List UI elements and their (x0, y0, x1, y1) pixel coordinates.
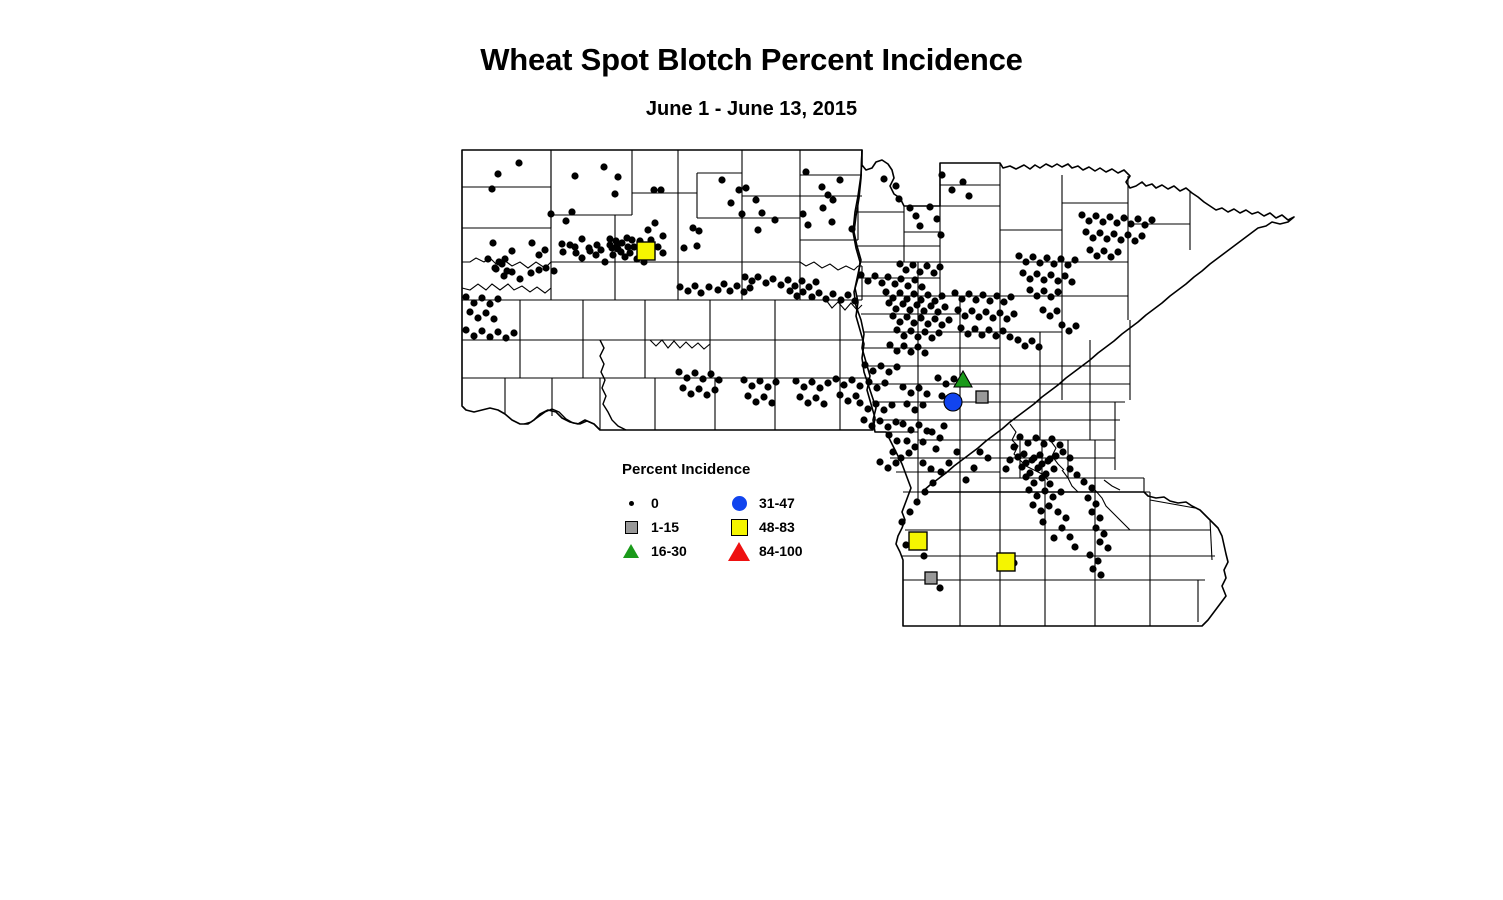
green-triangle-icon (620, 540, 642, 562)
legend-item-1-15: 1-15 (620, 515, 728, 539)
legend-items: 0 31-47 1-15 48-83 (620, 491, 840, 563)
map-page: Wheat Spot Blotch Percent Incidence June… (0, 0, 1503, 900)
legend-title: Percent Incidence (622, 462, 840, 477)
black-dot-icon (620, 492, 642, 514)
legend-item-84-100: 84-100 (728, 539, 840, 563)
legend-label-1-15: 1-15 (651, 520, 679, 534)
legend-label-48-83: 48-83 (759, 520, 795, 534)
yellow-square-icon (728, 516, 750, 538)
incidence-map (0, 0, 1503, 900)
legend-label-0: 0 (651, 496, 659, 510)
legend-item-48-83: 48-83 (728, 515, 840, 539)
gray-square-icon (620, 516, 642, 538)
red-triangle-icon (728, 540, 750, 562)
legend-item-0: 0 (620, 491, 728, 515)
north-dakota-outline (462, 150, 875, 430)
legend-item-16-30: 16-30 (620, 539, 728, 563)
legend-item-31-47: 31-47 (728, 491, 840, 515)
legend-label-16-30: 16-30 (651, 544, 687, 558)
blue-circle-icon (728, 492, 750, 514)
missouri-river (524, 340, 626, 430)
legend: Percent Incidence 0 31-47 1-15 (620, 462, 840, 563)
legend-label-84-100: 84-100 (759, 544, 803, 558)
legend-label-31-47: 31-47 (759, 496, 795, 510)
blue-circle-markers (944, 393, 962, 411)
